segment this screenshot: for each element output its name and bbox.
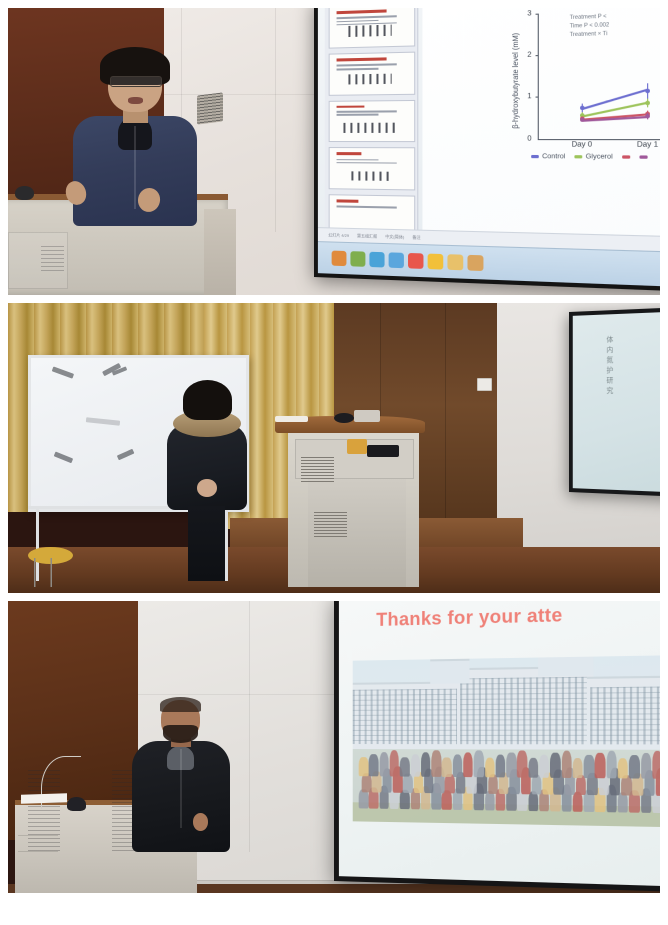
legend-marker-icon [532, 155, 540, 158]
person-silhouette [618, 758, 629, 778]
projected-closing-slide: Thanks for your atte [339, 601, 660, 888]
microphone-base [67, 797, 87, 812]
chart-series-layer [540, 8, 660, 139]
person-silhouette [485, 757, 495, 777]
chart-plot-area: 3 2 1 0 Treatment P < Time P < 0.002 [539, 8, 660, 140]
dark-device [367, 445, 400, 457]
mouth [128, 97, 143, 104]
jacket-zipper [134, 126, 136, 209]
person-silhouette [421, 753, 431, 777]
legend-marker-icon [640, 156, 648, 159]
collage-panel-top: β-hydroxybutyrate level (mM) 3 2 1 0 [8, 8, 660, 295]
person-silhouette [442, 757, 452, 777]
person-silhouette [442, 790, 452, 810]
person-silhouette [400, 790, 410, 810]
person-silhouette [517, 751, 527, 778]
chart-legend-label: Control [543, 153, 566, 161]
person-silhouette [362, 773, 371, 792]
person-silhouette [369, 755, 378, 777]
person-silhouette [532, 774, 542, 794]
presenter-male-black [132, 700, 230, 852]
person-silhouette [410, 755, 420, 777]
x-tick-label: Day 0 [572, 142, 593, 150]
legs [188, 506, 225, 581]
person-silhouette [403, 773, 413, 793]
microphone-base [15, 186, 35, 200]
person-silhouette [550, 753, 560, 778]
person-silhouette [641, 753, 652, 778]
glasses-icon [110, 76, 162, 87]
person-silhouette [652, 751, 660, 779]
chart-data-point [580, 106, 585, 110]
chart-legend-item: Glycerol [575, 153, 613, 161]
projected-slide-show: β-hydroxybutyrate level (mM) 3 2 1 0 [318, 8, 660, 289]
hydroxybutyrate-chart: β-hydroxybutyrate level (mM) 3 2 1 0 [514, 8, 660, 213]
person-silhouette [390, 750, 400, 776]
wall-seam [249, 601, 250, 852]
chart-data-point [580, 118, 585, 122]
chart-data-point [646, 102, 651, 106]
skype-icon[interactable] [370, 252, 385, 268]
slide-thumbnail-panel[interactable] [325, 8, 418, 244]
projector-screen-frame: β-hydroxybutyrate level (mM) 3 2 1 0 [314, 8, 660, 293]
music-icon[interactable] [409, 254, 424, 270]
lectern-control-label [41, 246, 63, 274]
person-silhouette [379, 752, 388, 776]
crowd-of-people [359, 734, 660, 813]
paper-on-lectern [275, 416, 308, 422]
status-bar-item: 中文(简体) [386, 234, 405, 241]
hair [183, 380, 232, 419]
status-bar-item: 第五组汇报 [357, 233, 377, 240]
person-silhouette [463, 753, 473, 777]
person-silhouette [576, 775, 586, 795]
app-icon[interactable] [468, 255, 484, 271]
chart-legend-label: Glycerol [586, 153, 613, 161]
projected-slide: 体内氮护研究 [572, 309, 660, 493]
person-silhouette [453, 755, 463, 777]
lectern-side [204, 209, 237, 295]
photo-collage: β-hydroxybutyrate level (mM) 3 2 1 0 [0, 0, 668, 925]
collage-panel-bottom: Thanks for your atte [8, 601, 660, 893]
presenter-male-blue [73, 54, 197, 226]
telegram-icon[interactable] [389, 253, 404, 269]
person-silhouette [474, 750, 484, 777]
person-silhouette [573, 758, 583, 778]
person-silhouette [485, 791, 495, 811]
projector-screen-frame: Thanks for your atte [334, 601, 660, 893]
slide-chinese-text: 体内氮护研究 [604, 335, 614, 396]
legend-marker-icon [575, 155, 583, 158]
person-silhouette [488, 774, 498, 794]
person-silhouette [561, 751, 571, 778]
person-silhouette [606, 751, 616, 778]
person-silhouette [629, 756, 640, 779]
wall-seam [275, 8, 276, 232]
person-silhouette [506, 753, 516, 778]
clasped-hands [197, 479, 217, 497]
chart-legend-item: Control [532, 153, 566, 161]
slide-thumbnail[interactable] [329, 8, 415, 49]
player-icon[interactable] [428, 254, 444, 270]
chart-legend: ControlGlycerol [532, 153, 660, 161]
person-silhouette [621, 775, 632, 795]
person-silhouette [539, 755, 549, 777]
y-tick-label: 3 [528, 10, 532, 18]
paper-on-lectern [21, 793, 67, 803]
lectern-vent [314, 512, 347, 538]
folder-icon[interactable] [448, 255, 464, 271]
person-silhouette [431, 750, 441, 776]
person-silhouette [595, 753, 605, 778]
projector-screen-frame: 体内氮护研究 [569, 305, 660, 498]
hair [160, 697, 201, 712]
slide-thumbnail[interactable] [329, 52, 415, 96]
status-bar-item: 备注 [413, 235, 421, 241]
lectern-speaker-grille [197, 92, 223, 124]
chart-series-line [582, 89, 648, 110]
stool-legs [34, 558, 67, 587]
slide-heading: Thanks for your atte [376, 601, 660, 631]
active-slide: β-hydroxybutyrate level (mM) 3 2 1 0 [422, 8, 660, 253]
hand [193, 813, 209, 831]
person-silhouette [573, 792, 583, 812]
x-tick-label: Day 1 [637, 142, 658, 150]
collage-panel-middle: 体内氮护研究 [8, 303, 660, 593]
jacket-zipper [180, 749, 182, 828]
wall-outlet [477, 378, 492, 390]
microphone-base [334, 413, 354, 423]
person-silhouette [445, 774, 455, 794]
lectern-speaker-grille [301, 457, 334, 483]
person-silhouette [495, 755, 505, 777]
chart-data-point [646, 89, 651, 93]
status-bar-item: 幻灯片 4/29 [329, 232, 350, 239]
colored-marker [347, 439, 367, 454]
slide-thumbnail[interactable] [329, 100, 415, 143]
y-tick-label: 1 [528, 93, 532, 100]
chart-data-point [646, 114, 651, 118]
y-tick-label: 0 [528, 135, 532, 142]
browser-icon[interactable] [351, 252, 366, 268]
person-silhouette [359, 757, 368, 776]
chart-legend-item [640, 154, 648, 162]
desk-object [354, 410, 380, 422]
person-silhouette [400, 757, 410, 776]
presenter-female-parka [164, 384, 249, 581]
legend-marker-icon [622, 156, 630, 159]
person-silhouette [359, 789, 368, 808]
slide-thumbnail[interactable] [329, 148, 415, 191]
beard [163, 725, 198, 743]
y-tick-label: 2 [528, 52, 532, 60]
group-photo [352, 655, 660, 828]
person-silhouette [584, 755, 594, 778]
chart-legend-item [622, 154, 630, 162]
person-silhouette [528, 758, 538, 778]
flame-icon[interactable] [332, 251, 347, 267]
